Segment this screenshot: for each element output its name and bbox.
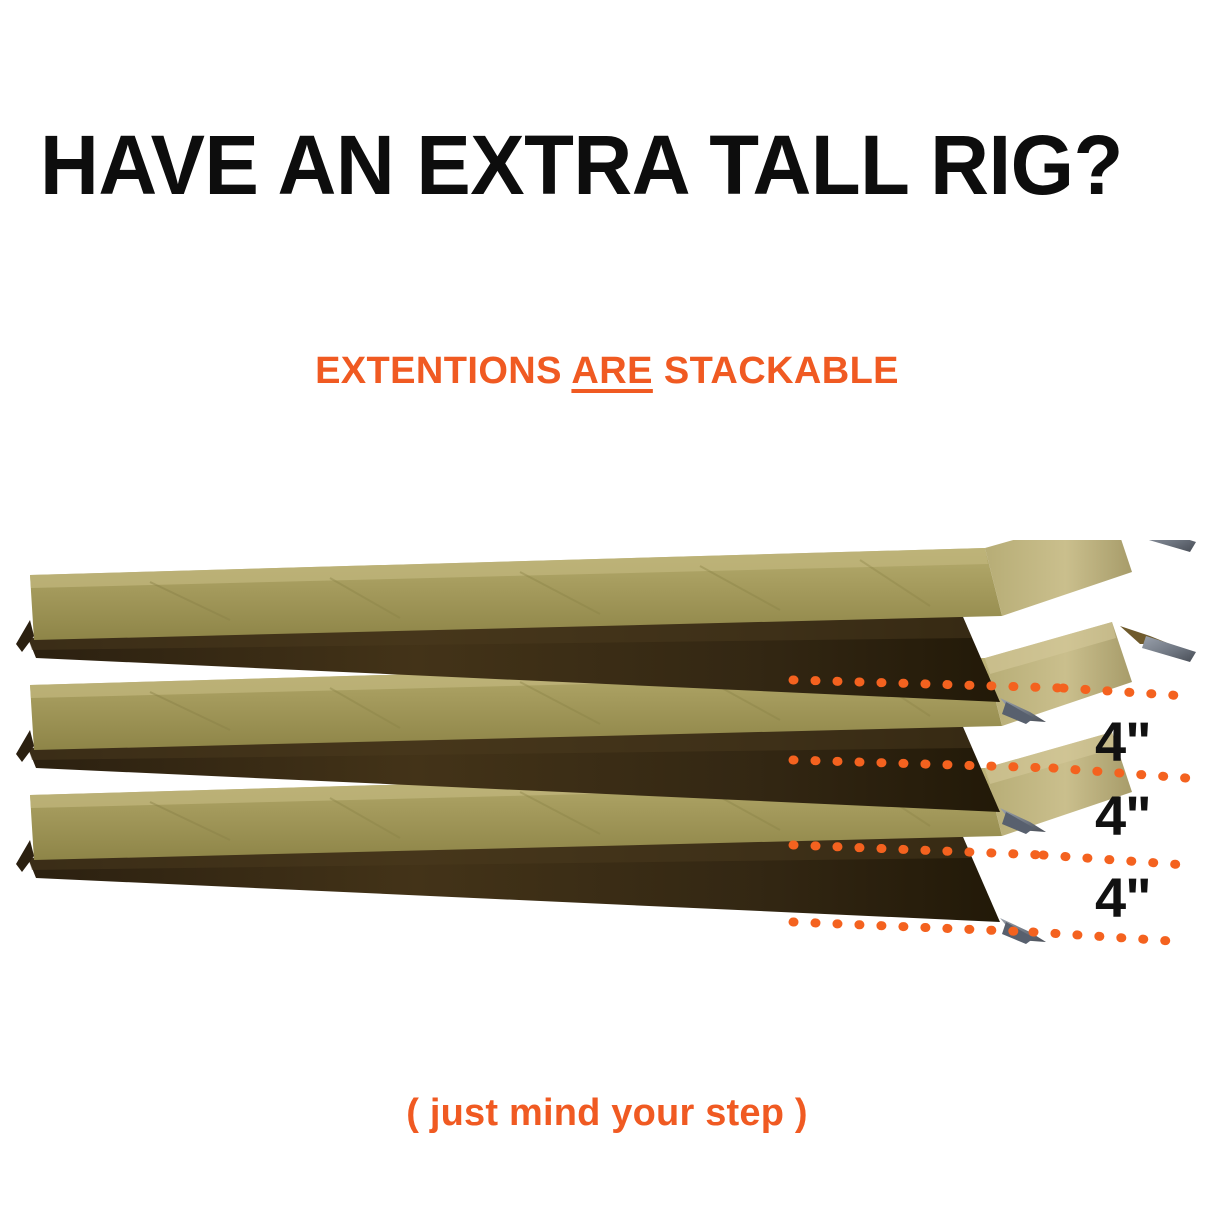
top-arm-hardware	[1118, 578, 1172, 598]
subtitle-after: STACKABLE	[653, 350, 899, 392]
subtitle-before: EXTENTIONS	[315, 350, 571, 392]
product-photo	[0, 540, 1214, 980]
subtitle-emphasis: ARE	[571, 350, 652, 392]
poster-canvas: HAVE AN EXTRA TALL RIG? EXTENTIONS ARE S…	[0, 0, 1214, 1214]
measurement-label-1: 4"	[1095, 714, 1151, 770]
footer-caption: ( just mind your step )	[0, 1094, 1214, 1132]
measurement-label-3: 4"	[1095, 870, 1151, 926]
page-title: HAVE AN EXTRA TALL RIG?	[40, 123, 1156, 207]
stacked-extensions-illustration	[0, 540, 1214, 980]
subtitle: EXTENTIONS ARE STACKABLE	[0, 352, 1214, 390]
measurement-label-2: 4"	[1095, 788, 1151, 844]
